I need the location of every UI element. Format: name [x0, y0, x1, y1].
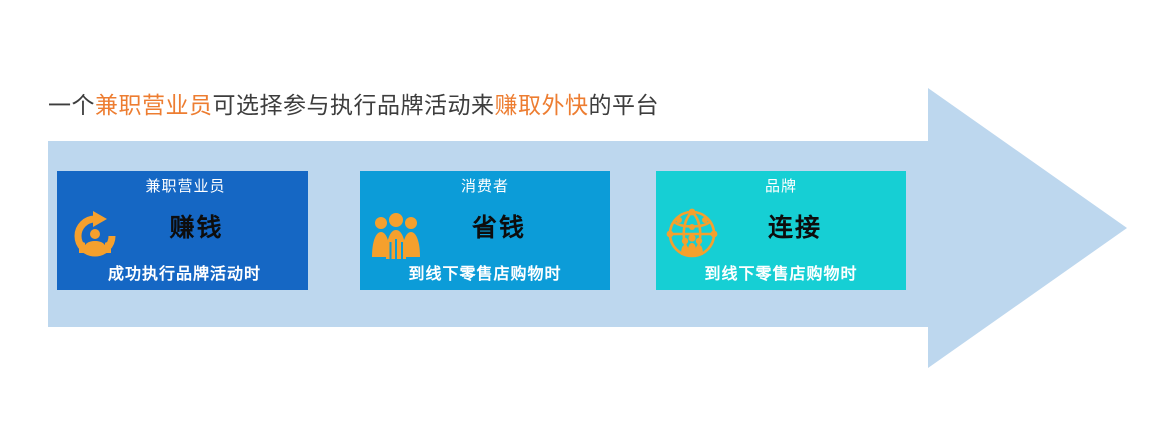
title-segment-0: 一个	[48, 92, 95, 118]
card-header-label: 兼职营业员	[57, 177, 308, 197]
card-main-label: 连接	[656, 211, 906, 245]
card-header-label: 品牌	[656, 177, 906, 197]
page-title: 一个兼职营业员可选择参与执行品牌活动来赚取外快的平台	[48, 88, 659, 122]
card-brand[interactable]: 品牌	[656, 171, 906, 290]
title-segment-3-highlight: 赚取外快	[495, 92, 589, 118]
card-footer-label: 成功执行品牌活动时	[57, 264, 308, 286]
card-footer-label: 到线下零售店购物时	[656, 264, 906, 286]
card-main-label: 省钱	[360, 211, 610, 245]
title-segment-4: 的平台	[589, 92, 660, 118]
title-segment-1-highlight: 兼职营业员	[95, 92, 213, 118]
title-segment-2: 可选择参与执行品牌活动来	[213, 92, 495, 118]
card-consumer[interactable]: 消费者 省钱 到线下零售店购物时	[360, 171, 610, 290]
card-footer-label: 到线下零售店购物时	[360, 264, 610, 286]
card-part-time-clerk[interactable]: 兼职营业员 赚钱 成功执行品牌活动时	[57, 171, 308, 290]
diagram-canvas: 一个兼职营业员可选择参与执行品牌活动来赚取外快的平台 兼职营业员 赚钱 成功执行…	[0, 0, 1150, 430]
card-main-label: 赚钱	[57, 211, 308, 245]
card-header-label: 消费者	[360, 177, 610, 197]
